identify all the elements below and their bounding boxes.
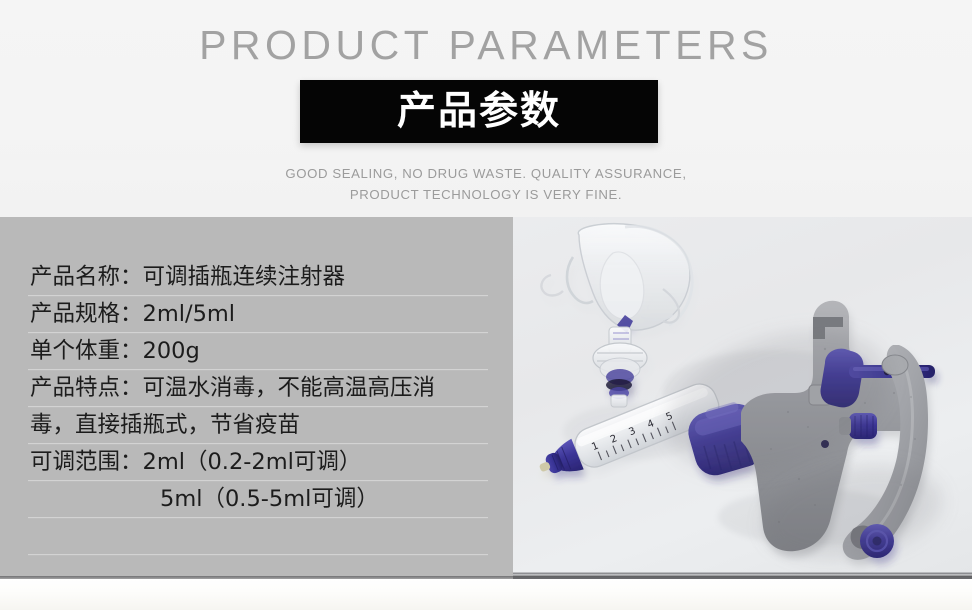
spec-row: 5ml（0.5-5ml可调） [0, 481, 513, 518]
spec-row-text: 毒，直接插瓶式，节省疫苗 [30, 409, 300, 442]
spec-row [0, 518, 513, 555]
spec-row: 产品特点：可温水消毒，不能高温高压消 [0, 370, 513, 407]
spec-row: 单个体重：200g [0, 333, 513, 370]
product-photo: 1 2 3 4 5 [513, 217, 972, 579]
spec-row-text: 可调范围：2ml（0.2-2ml可调） [30, 446, 361, 479]
spec-row-divider [28, 554, 488, 556]
specification-panel: 产品名称：可调插瓶连续注射器产品规格：2ml/5ml单个体重：200g产品特点：… [0, 217, 513, 579]
spec-row: 毒，直接插瓶式，节省疫苗 [0, 407, 513, 444]
header-section: PRODUCT PARAMETERS 产品参数 GOOD SEALING, NO… [0, 0, 972, 217]
spec-row: 产品规格：2ml/5ml [0, 296, 513, 333]
subtitle-line-1: GOOD SEALING, NO DRUG WASTE. QUALITY ASS… [0, 163, 972, 184]
product-parameters-page: PRODUCT PARAMETERS 产品参数 GOOD SEALING, NO… [0, 0, 972, 610]
bottom-strip [0, 579, 972, 610]
spec-row-text: 单个体重：200g [30, 335, 200, 368]
subtitle: GOOD SEALING, NO DRUG WASTE. QUALITY ASS… [0, 163, 972, 205]
page-title: PRODUCT PARAMETERS [0, 22, 972, 69]
spec-row-text: 5ml（0.5-5ml可调） [160, 483, 379, 516]
spec-row-text: 产品名称：可调插瓶连续注射器 [30, 261, 345, 294]
banner-title-cn: 产品参数 [300, 80, 658, 143]
spec-row: 产品名称：可调插瓶连续注射器 [0, 259, 513, 296]
spec-row: 可调范围：2ml（0.2-2ml可调） [0, 444, 513, 481]
specification-list: 产品名称：可调插瓶连续注射器产品规格：2ml/5ml单个体重：200g产品特点：… [0, 259, 513, 555]
spec-row-text: 产品特点：可温水消毒，不能高温高压消 [30, 372, 435, 405]
spec-row-text: 产品规格：2ml/5ml [30, 298, 235, 331]
subtitle-line-2: PRODUCT TECHNOLOGY IS VERY FINE. [0, 184, 972, 205]
banner-block: 产品参数 [300, 80, 658, 143]
